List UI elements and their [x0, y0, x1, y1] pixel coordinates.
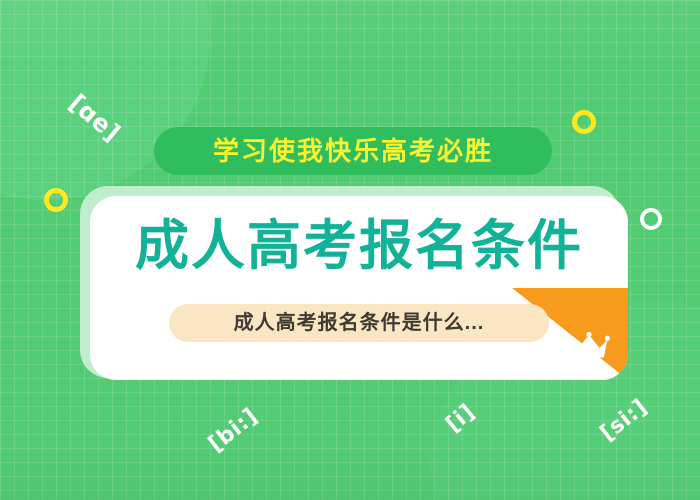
circle-ring-icon-yellow-top — [572, 110, 596, 134]
subtitle-pill: 成人高考报名条件是什么... — [169, 304, 549, 342]
crown-icon — [568, 332, 610, 362]
subtitle-text: 成人高考报名条件是什么... — [234, 313, 485, 333]
circle-ring-icon-yellow-left — [44, 188, 68, 212]
slogan-banner: 学习使我快乐高考必胜 — [154, 127, 552, 175]
circle-ring-icon-white-right — [640, 208, 662, 230]
poster-canvas: [ɑe] [bi:] [i] [si:] 学习使我快乐高考必胜 成人高考报名条件… — [0, 0, 700, 500]
slogan-banner-text: 学习使我快乐高考必胜 — [213, 138, 493, 164]
page-title: 成人高考报名条件 — [90, 218, 628, 275]
main-card: 成人高考报名条件 成人高考报名条件是什么... — [90, 196, 628, 380]
